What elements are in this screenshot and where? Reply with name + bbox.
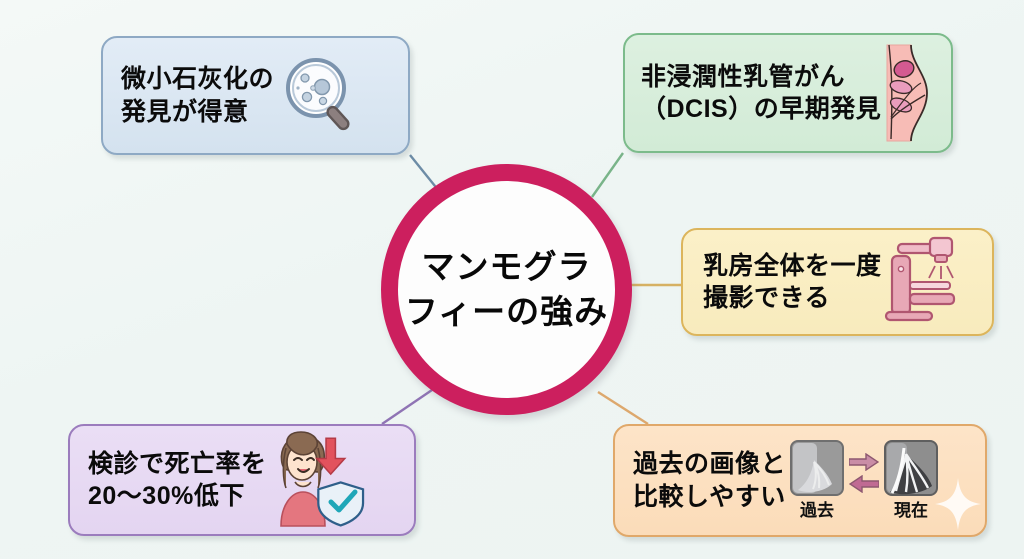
sparkle-decoration xyxy=(935,478,981,530)
card-dcis-text: 非浸潤性乳管がん （DCIS）の早期発見 xyxy=(641,61,881,126)
card-mortality-text: 検診で死亡率を 20〜30%低下 xyxy=(88,448,267,513)
card-compare-past[interactable]: 過去の画像と 比較しやすい 過去 xyxy=(613,424,987,537)
infographic-canvas: マンモグラ フィーの強み 微小石灰化の 発見が得意 非浸潤性乳管がん （DCIS… xyxy=(0,0,1024,559)
card-compare-past-text: 過去の画像と 比較しやすい xyxy=(633,448,786,513)
mammogram-compare-icon: 過去 現在 xyxy=(790,440,938,521)
card-mortality[interactable]: 検診で死亡率を 20〜30%低下 xyxy=(68,424,416,536)
thumbnail-label-present: 現在 xyxy=(894,496,928,521)
mammography-machine-icon xyxy=(878,236,962,328)
connector-mortality xyxy=(382,390,432,424)
arrow-left-icon xyxy=(849,475,879,493)
card-dcis[interactable]: 非浸潤性乳管がん （DCIS）の早期発見 xyxy=(623,33,953,153)
hub-title: マンモグラ フィーの強み xyxy=(405,245,608,333)
card-whole-breast-text: 乳房全体を一度 撮影できる xyxy=(703,250,882,315)
arrow-right-icon xyxy=(849,453,879,471)
card-microcalcification[interactable]: 微小石灰化の 発見が得意 xyxy=(101,36,410,155)
center-hub: マンモグラ フィーの強み xyxy=(381,164,632,415)
magnifier-dots-icon xyxy=(276,50,368,142)
connector-dcis xyxy=(592,153,623,197)
card-microcalcification-text: 微小石灰化の 発見が得意 xyxy=(121,63,274,128)
card-whole-breast[interactable]: 乳房全体を一度 撮影できる xyxy=(681,228,994,336)
connector-compare xyxy=(598,392,648,424)
breast-anatomy-icon xyxy=(881,43,933,143)
woman-shield-arrow-icon xyxy=(267,430,375,530)
thumbnail-label-past: 過去 xyxy=(800,496,834,521)
